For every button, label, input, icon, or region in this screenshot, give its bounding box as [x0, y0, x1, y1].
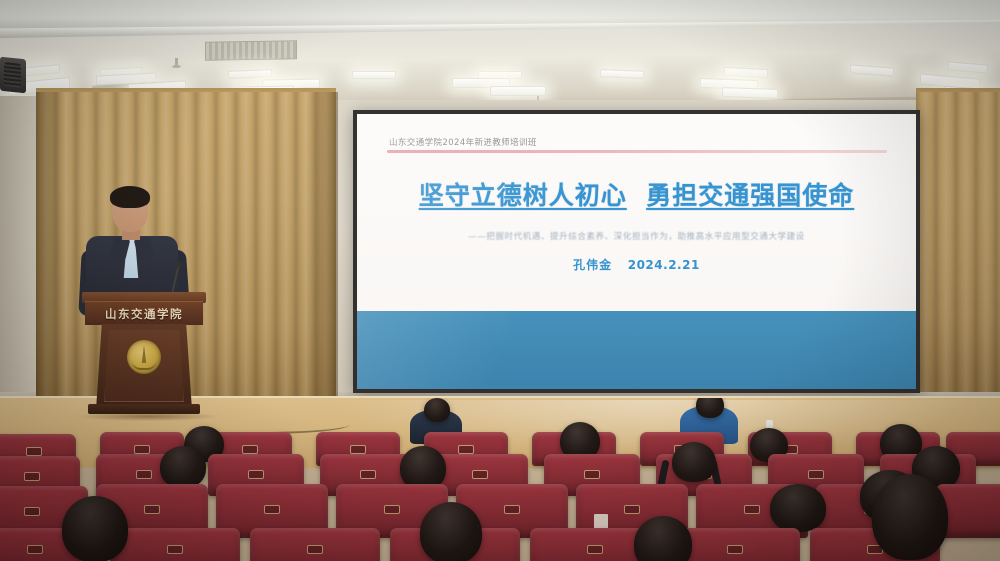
speaker-hair	[110, 186, 150, 208]
slide-speaker-name: 孔伟金	[573, 258, 612, 272]
auditorium-seat	[250, 528, 380, 561]
slide-title-part-1: 坚守立德树人初心	[419, 181, 627, 210]
audience-head	[424, 398, 450, 422]
slide-title: 坚守立德树人初心 勇担交通强国使命	[357, 176, 916, 212]
ceiling-air-vent	[205, 40, 297, 61]
audience-head	[62, 496, 128, 561]
curtain-shadow-left	[36, 92, 66, 400]
audience-seating-area	[0, 398, 1000, 561]
university-crest-icon	[127, 340, 161, 374]
slide-title-part-2: 勇担交通强国使命	[646, 181, 854, 210]
stage-curtain-right	[916, 92, 1000, 392]
wall-speaker-icon	[0, 57, 26, 94]
audience-head	[160, 446, 206, 488]
ceiling-panel-light	[352, 71, 396, 79]
audience-head	[672, 442, 716, 482]
ceiling-panel-light	[722, 87, 778, 99]
podium-nameplate-text: 山东交通学院	[105, 306, 183, 322]
podium-and-speaker: 山东交通学院	[78, 188, 208, 418]
curtain-shadow-right	[306, 92, 338, 400]
audience-head	[696, 398, 724, 418]
slide-date: 2024.2.21	[628, 258, 700, 272]
auditorium-seat	[110, 528, 240, 561]
podium-nameplate: 山东交通学院	[85, 301, 203, 325]
slide-byline: 孔伟金 2024.2.21	[357, 256, 916, 273]
ceiling-panel-light	[490, 86, 546, 96]
slide-header-text: 山东交通学院2024年新进教师培训班	[389, 136, 537, 148]
audience-head	[872, 474, 948, 560]
presentation-slide: 山东交通学院2024年新进教师培训班 坚守立德树人初心 勇担交通强国使命 ——把…	[357, 114, 916, 389]
slide-bottom-color-band	[357, 311, 916, 389]
sprinkler-head	[175, 58, 178, 66]
slide-subtitle: ——把握时代机遇、提升综合素养、深化担当作为，助推高水平应用型交通大学建设	[357, 230, 916, 242]
audience-head	[420, 502, 482, 561]
ceiling-panel-light	[228, 69, 272, 79]
ceiling-panel-light	[600, 69, 644, 79]
slide-header-rule	[387, 150, 887, 153]
lecture-hall-photo: 山东交通学院2024年新进教师培训班 坚守立德树人初心 勇担交通强国使命 ——把…	[0, 0, 1000, 561]
wall-side-panel-left	[0, 96, 40, 396]
projection-screen: 山东交通学院2024年新进教师培训班 坚守立德树人初心 勇担交通强国使命 ——把…	[357, 114, 916, 389]
audience-head	[770, 484, 826, 532]
projection-screen-frame: 山东交通学院2024年新进教师培训班 坚守立德树人初心 勇担交通强国使命 ——把…	[353, 110, 920, 393]
